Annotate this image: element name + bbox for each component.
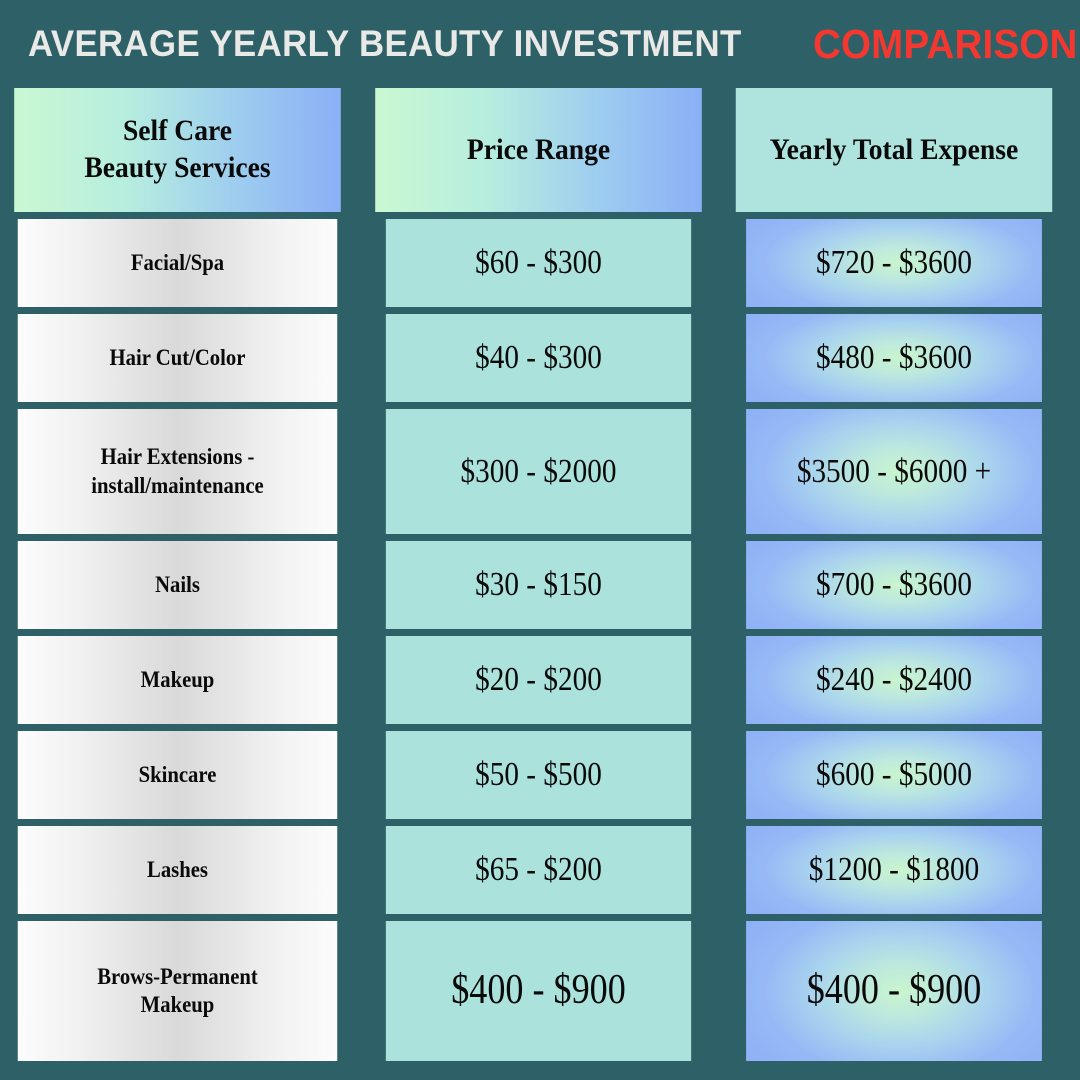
cell-yearly-total: $720 - $3600	[746, 219, 1042, 307]
cell-yearly-total: $240 - $2400	[746, 636, 1042, 724]
table-row: Facial/Spa $60 - $300 $720 - $3600	[0, 219, 1080, 307]
cell-service: Skincare	[18, 731, 338, 819]
title-band: AVERAGE YEARLY BEAUTY INVESTMENT COMPARI…	[0, 0, 1080, 88]
table-row: Hair Cut/Color $40 - $300 $480 - $3600	[0, 314, 1080, 402]
cell-price-range: $300 - $2000	[386, 409, 691, 534]
page-title-accent: COMPARISON	[813, 21, 1078, 68]
cell-service: Facial/Spa	[18, 219, 338, 307]
cell-service: Hair Cut/Color	[18, 314, 338, 402]
table-row: Nails $30 - $150 $700 - $3600	[0, 541, 1080, 629]
cell-service: Brows-Permanent Makeup	[18, 921, 338, 1061]
cell-yearly-total: $3500 - $6000 +	[746, 409, 1042, 534]
cell-yearly-total: $700 - $3600	[746, 541, 1042, 629]
cell-service: Nails	[18, 541, 338, 629]
table-row: Makeup $20 - $200 $240 - $2400	[0, 636, 1080, 724]
column-header-yearly-total-expense: Yearly Total Expense	[736, 88, 1052, 212]
cell-service: Makeup	[18, 636, 338, 724]
cell-yearly-total: $1200 - $1800	[746, 826, 1042, 914]
cell-service: Hair Extensions - install/maintenance	[18, 409, 338, 534]
column-header-price-range: Price Range	[375, 88, 702, 212]
cell-price-range: $40 - $300	[386, 314, 691, 402]
cell-price-range: $65 - $200	[386, 826, 691, 914]
cell-price-range: $30 - $150	[386, 541, 691, 629]
table-header-row: Self Care Beauty Services Price Range Ye…	[0, 88, 1080, 212]
column-header-self-care-beauty-services: Self Care Beauty Services	[14, 88, 341, 212]
cell-yearly-total: $480 - $3600	[746, 314, 1042, 402]
comparison-table: Self Care Beauty Services Price Range Ye…	[0, 88, 1080, 1061]
cell-price-range: $400 - $900	[386, 921, 691, 1061]
table-row: Hair Extensions - install/maintenance $3…	[0, 409, 1080, 534]
table-row: Brows-Permanent Makeup $400 - $900 $400 …	[0, 921, 1080, 1061]
cell-yearly-total: $400 - $900	[746, 921, 1042, 1061]
cell-price-range: $60 - $300	[386, 219, 691, 307]
table-row: Skincare $50 - $500 $600 - $5000	[0, 731, 1080, 819]
cell-price-range: $50 - $500	[386, 731, 691, 819]
cell-service: Lashes	[18, 826, 338, 914]
page-title: AVERAGE YEARLY BEAUTY INVESTMENT	[28, 23, 742, 65]
cell-yearly-total: $600 - $5000	[746, 731, 1042, 819]
cell-price-range: $20 - $200	[386, 636, 691, 724]
table-row: Lashes $65 - $200 $1200 - $1800	[0, 826, 1080, 914]
